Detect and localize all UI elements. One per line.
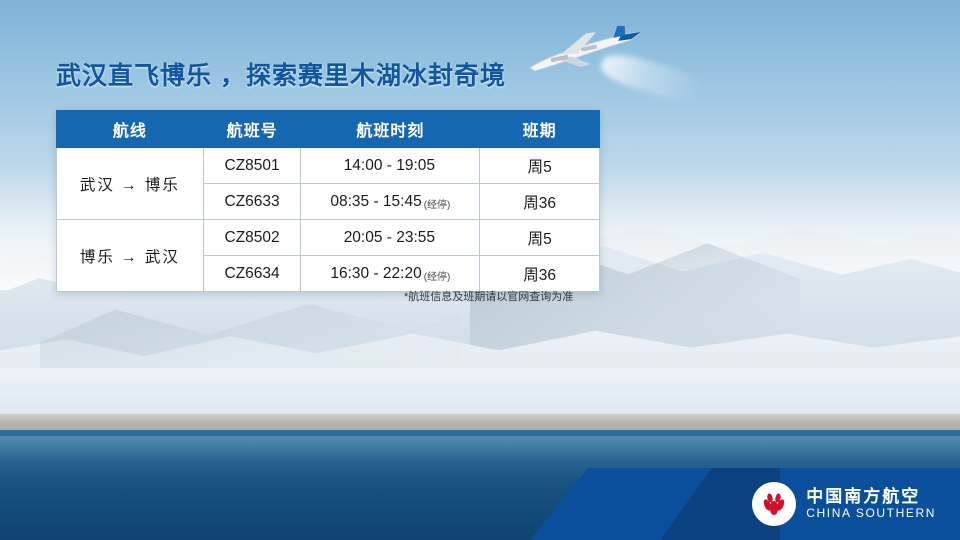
flight-no-cell: CZ6633: [203, 184, 301, 220]
table-header-row: 航线 航班号 航班时刻 班期: [57, 111, 600, 148]
flight-no-cell: CZ8502: [203, 220, 301, 256]
flight-time-text: 14:00 - 19:05: [344, 157, 435, 174]
flight-no-cell: CZ8501: [203, 148, 301, 184]
disclaimer-note: *航班信息及班期请以官网查询为准: [404, 288, 573, 304]
flight-time-text: 16:30 - 22:20: [330, 265, 421, 282]
days-cell: 周5: [480, 148, 600, 184]
brand-text: 中国南方航空 CHINA SOUTHERN: [806, 488, 936, 520]
brand-name-en: CHINA SOUTHERN: [806, 507, 936, 520]
flight-time-cell: 08:35 - 15:45(经停): [301, 184, 480, 220]
stopover-label: (经停): [424, 272, 451, 283]
table-row: 武汉 → 博乐 CZ8501 14:00 - 19:05 周5: [57, 148, 600, 184]
days-cell: 周36: [480, 256, 600, 292]
flight-time-text: 20:05 - 23:55: [344, 229, 435, 246]
route-cell-outbound: 武汉 → 博乐: [57, 148, 204, 220]
flight-time-cell: 14:00 - 19:05: [301, 148, 480, 184]
poster-canvas: 武汉直飞博乐 ，探索赛里木湖冰封奇境 航线 航班号 航班时刻 班期 武汉 → 博…: [0, 0, 960, 540]
kapok-logo-icon: [752, 482, 796, 526]
route-cell-return: 博乐 → 武汉: [57, 220, 204, 292]
flight-time-text: 08:35 - 15:45: [330, 193, 421, 210]
brand-bar: 中国南方航空 CHINA SOUTHERN: [0, 468, 960, 540]
stopover-label: (经停): [424, 200, 451, 211]
header-days: 班期: [480, 111, 600, 148]
airplane-icon: [520, 26, 650, 80]
days-cell: 周5: [480, 220, 600, 256]
brand-lockup: 中国南方航空 CHINA SOUTHERN: [752, 482, 936, 526]
table-row: 博乐 → 武汉 CZ8502 20:05 - 23:55 周5: [57, 220, 600, 256]
days-cell: 周36: [480, 184, 600, 220]
flight-no-cell: CZ6634: [203, 256, 301, 292]
header-route: 航线: [57, 111, 204, 148]
brand-name-cn: 中国南方航空: [806, 488, 936, 507]
flight-schedule-table: 航线 航班号 航班时刻 班期 武汉 → 博乐 CZ8501 14:00 - 19…: [56, 110, 600, 292]
flight-time-cell: 16:30 - 22:20(经停): [301, 256, 480, 292]
flight-time-cell: 20:05 - 23:55: [301, 220, 480, 256]
page-title: 武汉直飞博乐 ，探索赛里木湖冰封奇境: [56, 56, 506, 92]
header-flight-no: 航班号: [203, 111, 301, 148]
header-flight-time: 航班时刻: [301, 111, 480, 148]
